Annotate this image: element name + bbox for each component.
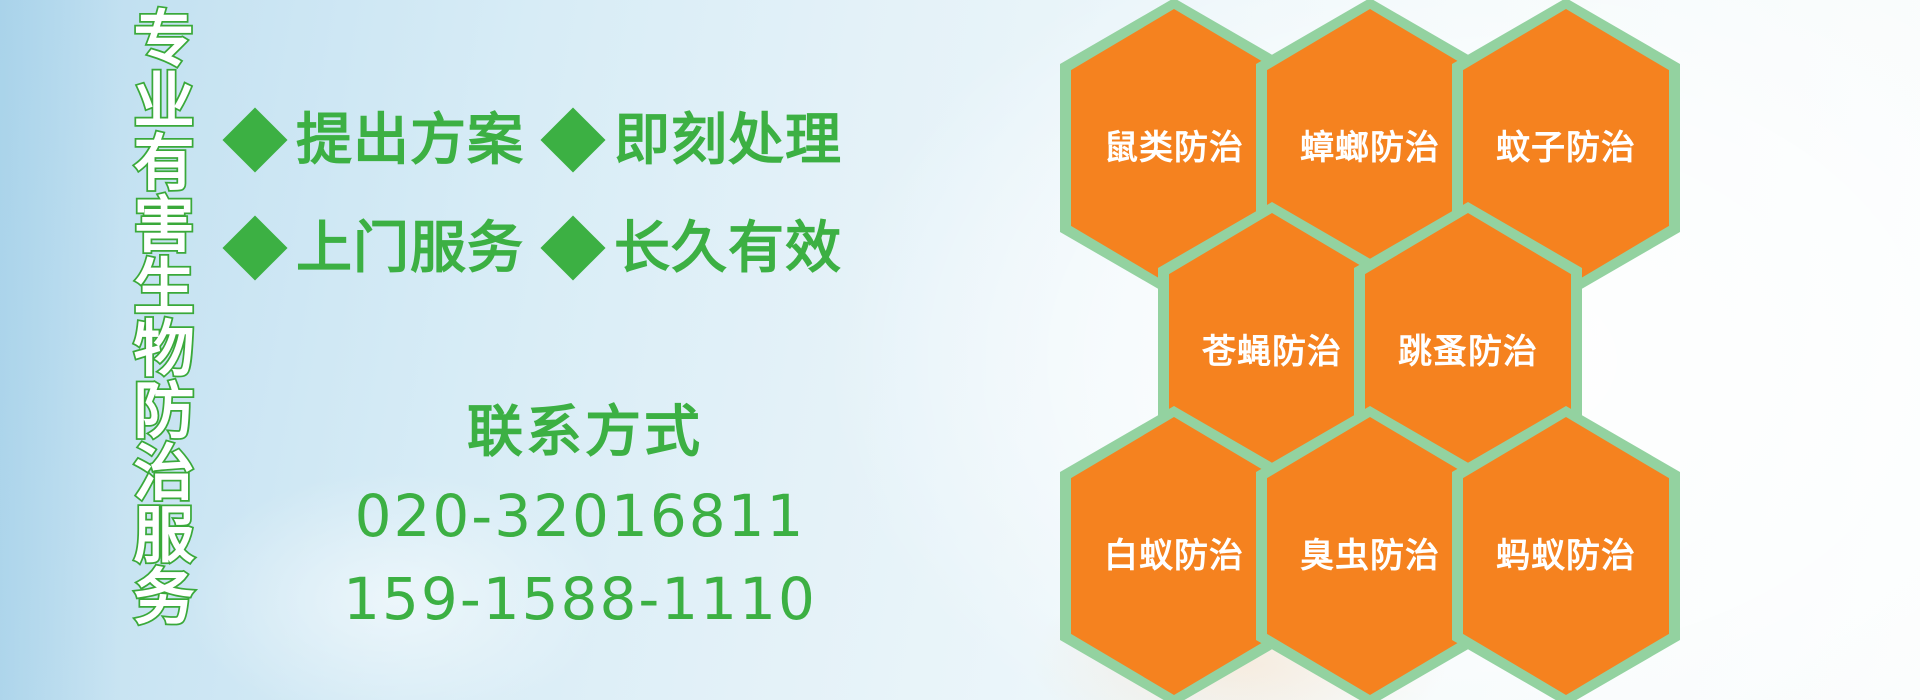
feature-item: 提出方案 — [232, 112, 524, 168]
contact-block: 联系方式 020-32016811 159-1588-1110 — [300, 400, 860, 637]
service-hexagon-bedbug[interactable]: 臭虫防治 — [1256, 406, 1484, 700]
vertical-headline-char: 务 — [133, 566, 194, 628]
vertical-headline-char: 防 — [133, 380, 194, 442]
vertical-headline-char: 服 — [133, 504, 194, 566]
diamond-icon — [222, 215, 287, 280]
background-left-glow — [0, 0, 120, 700]
feature-row: 上门服务 长久有效 — [232, 194, 872, 302]
diamond-icon — [540, 107, 605, 172]
service-label: 蚂蚁防治 — [1496, 539, 1636, 573]
vertical-headline-char: 专 — [133, 8, 194, 70]
service-label: 苍蝇防治 — [1202, 335, 1342, 369]
diamond-icon — [540, 215, 605, 280]
vertical-headline-char: 害 — [133, 194, 194, 256]
service-label: 蚊子防治 — [1496, 131, 1636, 165]
vertical-headline-char: 生 — [133, 256, 194, 318]
contact-phone-mobile[interactable]: 159-1588-1110 — [300, 561, 860, 638]
service-label: 臭虫防治 — [1300, 539, 1440, 573]
feature-label: 即刻处理 — [614, 112, 842, 168]
vertical-headline-char: 治 — [133, 442, 194, 504]
service-label: 跳蚤防治 — [1398, 335, 1538, 369]
diamond-icon — [222, 107, 287, 172]
contact-phone-landline[interactable]: 020-32016811 — [300, 478, 860, 555]
vertical-headline-char: 有 — [133, 132, 194, 194]
feature-list: 提出方案 即刻处理 上门服务 长久有效 — [232, 86, 872, 302]
feature-row: 提出方案 即刻处理 — [232, 86, 872, 194]
feature-item: 上门服务 — [232, 220, 524, 276]
vertical-headline: 专 业 有 害 生 物 防 治 服 务 — [112, 8, 216, 568]
vertical-headline-char: 业 — [133, 70, 194, 132]
service-label: 鼠类防治 — [1104, 131, 1244, 165]
contact-title: 联系方式 — [310, 400, 860, 464]
feature-label: 上门服务 — [296, 220, 524, 276]
feature-item: 长久有效 — [550, 220, 842, 276]
feature-label: 长久有效 — [614, 220, 842, 276]
feature-label: 提出方案 — [296, 112, 524, 168]
vertical-headline-char: 物 — [133, 318, 194, 380]
pest-control-banner: 专 业 有 害 生 物 防 治 服 务 提出方案 即刻处理 上门服务 — [0, 0, 1920, 700]
service-label: 蟑螂防治 — [1300, 131, 1440, 165]
feature-item: 即刻处理 — [550, 112, 842, 168]
service-hexagon-grid: 鼠类防治 蟑螂防治 蚊子防治 苍蝇防治 跳蚤防治 白蚁防治 — [1060, 0, 1820, 700]
service-hexagon-ant[interactable]: 蚂蚁防治 — [1452, 406, 1680, 700]
service-hexagon-termite[interactable]: 白蚁防治 — [1060, 406, 1288, 700]
service-label: 白蚁防治 — [1104, 539, 1244, 573]
